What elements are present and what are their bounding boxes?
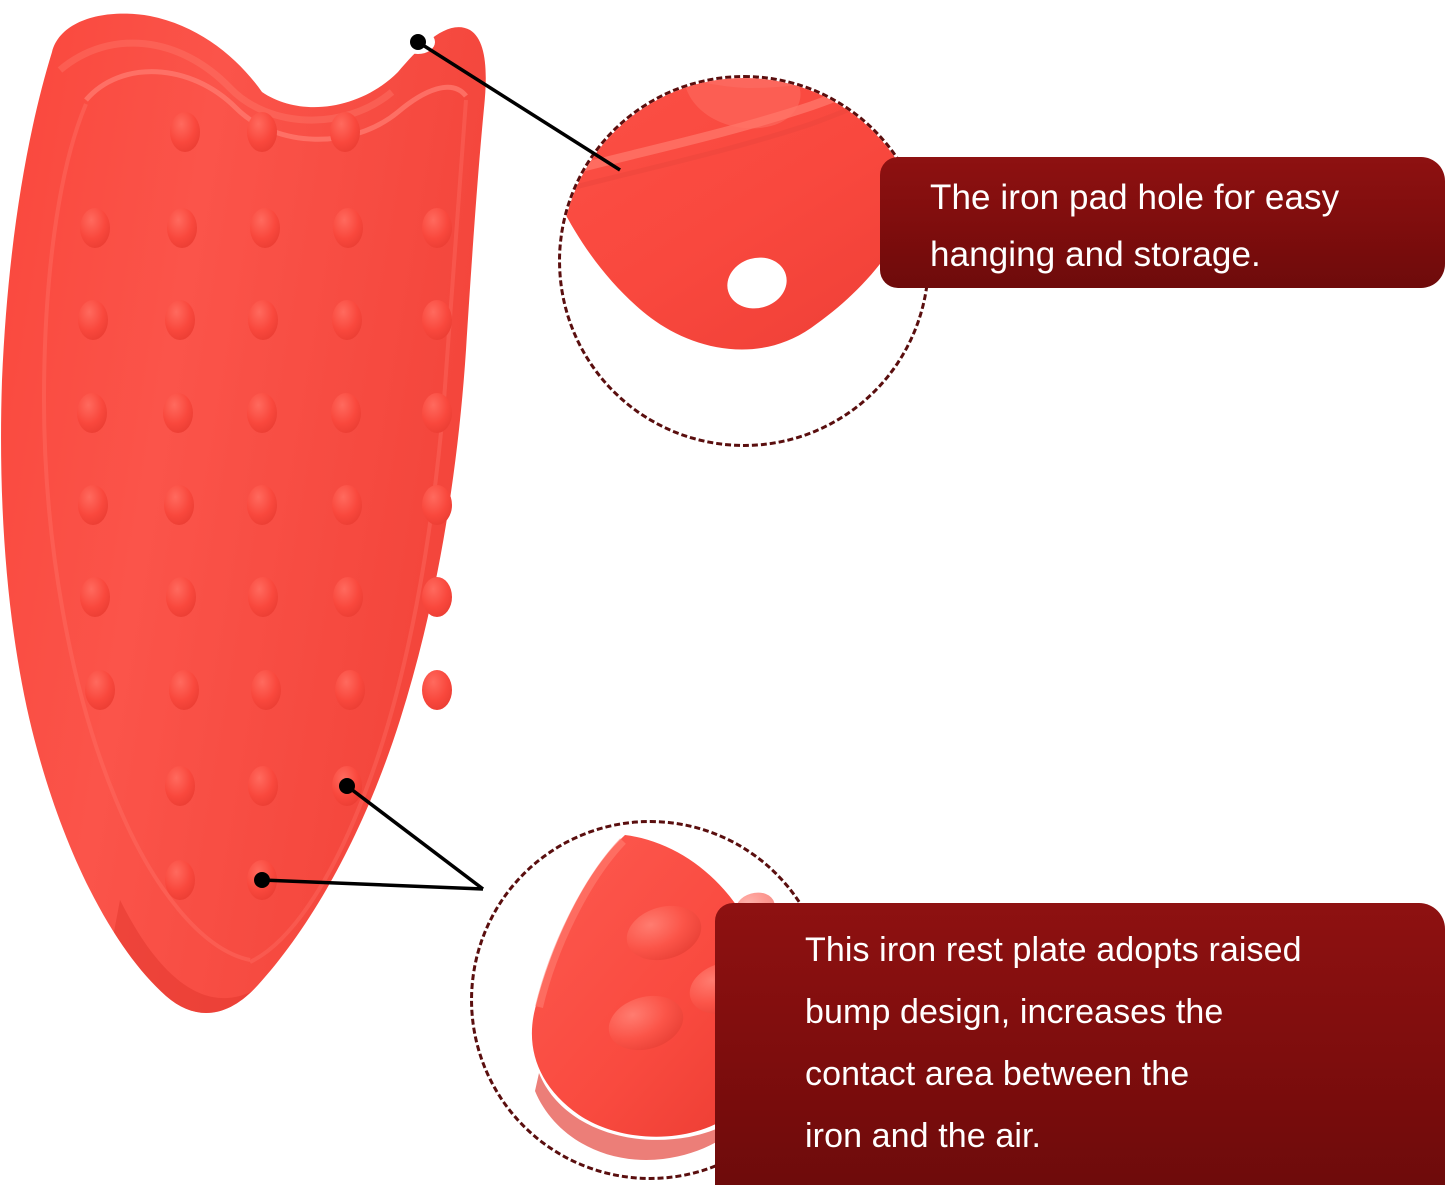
iron-pad-hole-callout [558,75,930,447]
caption-bumps-line-3: contact area between the [805,1043,1429,1105]
pad-body [1,14,486,1060]
caption-bumps-line-4: iron and the air. [805,1105,1429,1167]
caption-bumps-line-2: bump design, increases the [805,981,1429,1043]
caption-bumps-line-1: This iron rest plate adopts raised [805,919,1429,981]
caption-hole-line-1: The iron pad hole for easy [930,169,1431,226]
caption-hole-line-2: hanging and storage. [930,226,1431,283]
infographic-canvas: The iron pad hole for easy hanging and s… [0,0,1445,1185]
iron-pad-hole-caption: The iron pad hole for easy hanging and s… [880,157,1445,288]
raised-bump-caption: This iron rest plate adopts raised bump … [715,903,1445,1185]
hanging-hole [401,30,435,54]
